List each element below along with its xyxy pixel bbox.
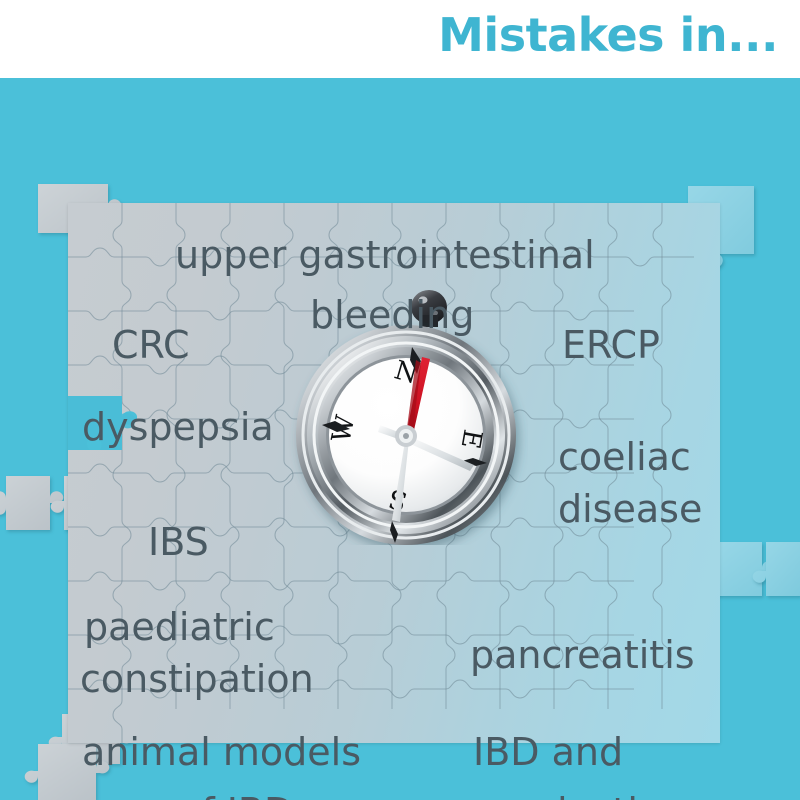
- keyword-constipation: constipation: [80, 660, 314, 698]
- poster-canvas: N E S W: [0, 78, 800, 800]
- page-title: Mistakes in...: [438, 6, 778, 64]
- keyword-bleeding: bleeding: [310, 296, 474, 334]
- keyword-coeliac: coeliac: [558, 438, 691, 476]
- keyword-pancreatitis: pancreatitis: [470, 636, 695, 674]
- poster-root: Mistakes in...: [0, 0, 800, 800]
- keyword-upper-gastrointestinal: upper gastrointestinal: [175, 236, 595, 274]
- header-bar: Mistakes in...: [0, 0, 800, 78]
- keyword-ercp: ERCP: [562, 326, 660, 364]
- keyword-animal-models: animal models: [82, 733, 361, 771]
- keyword-paediatric: paediatric: [84, 608, 275, 646]
- keyword-disease: disease: [558, 490, 702, 528]
- keyword-ibs: IBS: [148, 523, 209, 561]
- keyword-of-ibd: of IBD: [178, 793, 293, 800]
- keyword-reproduction: reproduction: [443, 793, 685, 800]
- keyword-dyspepsia: dyspepsia: [82, 408, 274, 446]
- keyword-crc: CRC: [112, 326, 190, 364]
- keyword-ibd-and: IBD and: [473, 733, 623, 771]
